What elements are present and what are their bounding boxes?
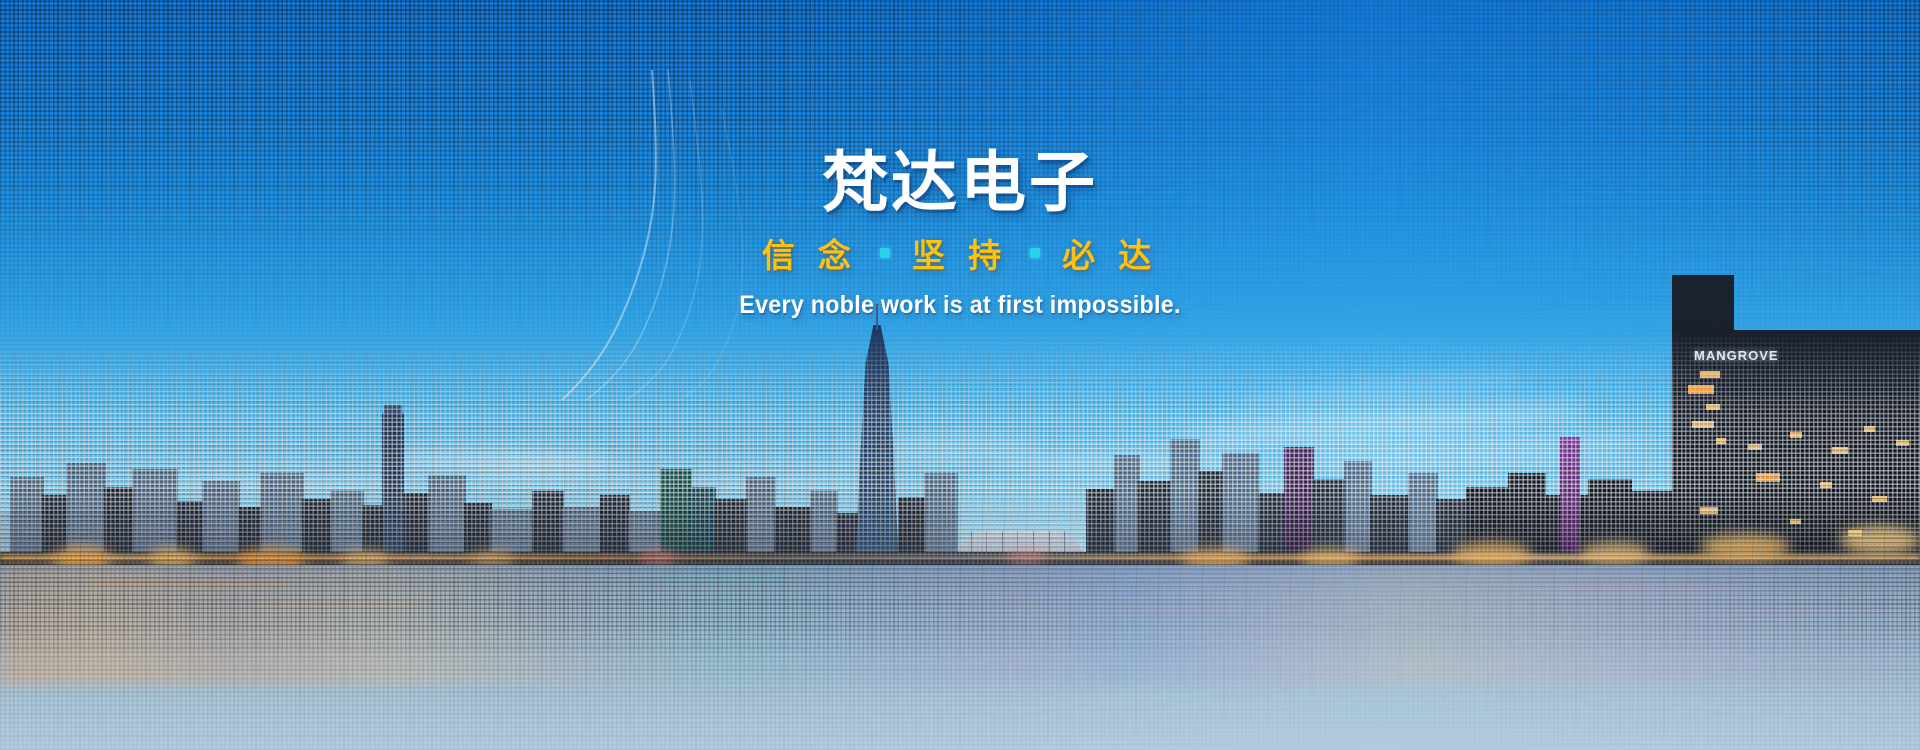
slogan-part-1: 信 念 xyxy=(756,229,864,277)
hero-banner: MANGROVE xyxy=(0,0,1920,750)
hero-text-block: 梵达电子 信 念 坚 持 必 达 Every noble work is at … xyxy=(0,148,1920,320)
slogan-dot-icon xyxy=(1030,248,1040,258)
bay-water xyxy=(0,565,1920,750)
tagline-english: Every noble work is at first impossible. xyxy=(67,291,1853,320)
landmark-tower xyxy=(855,325,899,565)
slogan-part-3: 必 达 xyxy=(1056,229,1164,277)
slogan: 信 念 坚 持 必 达 xyxy=(0,229,1920,277)
slogan-part-2: 坚 持 xyxy=(906,229,1014,277)
page-title: 梵达电子 xyxy=(0,148,1920,217)
mangrove-sign-text: MANGROVE xyxy=(1694,348,1779,363)
slogan-dot-icon xyxy=(880,248,890,258)
